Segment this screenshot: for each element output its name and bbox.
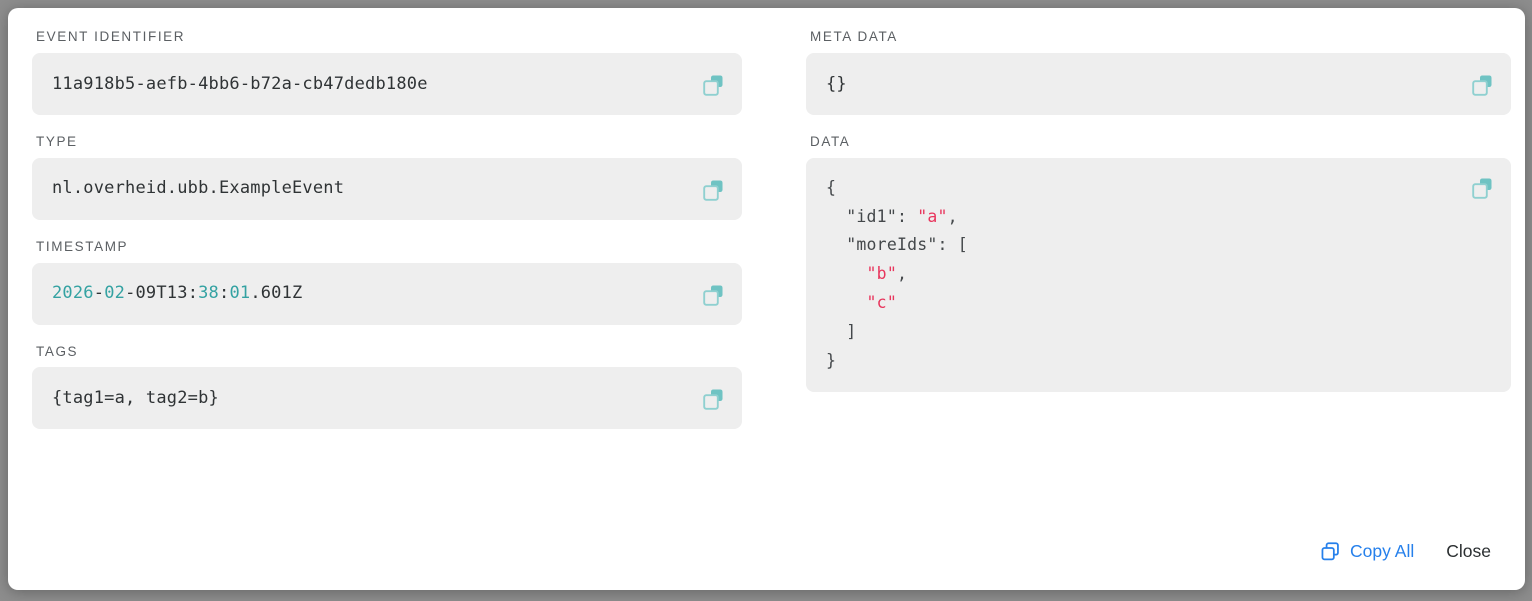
timestamp-token: 01 [229,283,250,303]
timestamp-box: 2026-02-09T13:38:01.601Z [32,263,742,325]
event-identifier-label: EVENT IDENTIFIER [36,30,742,45]
timestamp-value: 2026-02-09T13:38:01.601Z [52,281,303,306]
json-token: "a" [917,207,947,226]
json-token: , [948,207,958,226]
copy-icon-timestamp[interactable] [702,282,726,306]
data-json-value: { "id1": "a", "moreIds": [ "b", "c" ]} [826,174,968,376]
json-token: "c" [867,293,897,312]
json-token: "id1" [846,207,897,226]
timestamp-token: .601Z [250,283,302,303]
tags-value: {tag1=a, tag2=b} [52,386,219,411]
data-label: DATA [810,135,1511,150]
copy-all-icon [1320,541,1341,562]
meta-data-box: {} [806,53,1511,115]
field-timestamp: TIMESTAMP 2026-02-09T13:38:01.601Z [32,240,742,325]
field-data: DATA { "id1": "a", "moreIds": [ "b", "c"… [806,135,1511,392]
json-line: "c" [826,289,968,318]
right-column: META DATA {} DATA { "id [806,30,1511,412]
close-button[interactable]: Close [1444,537,1495,566]
event-identifier-box: 11a918b5-aefb-4bb6-b72a-cb47dedb180e [32,53,742,115]
json-line: { [826,174,968,203]
copy-icon [702,72,726,96]
timestamp-label: TIMESTAMP [36,240,742,255]
close-label: Close [1446,541,1491,562]
json-token: : [ [938,235,968,254]
json-token: , [897,264,907,283]
timestamp-token: 2026 [52,283,94,303]
meta-data-value: {} [826,72,847,97]
copy-all-button[interactable]: Copy All [1318,537,1416,566]
field-event-identifier: EVENT IDENTIFIER 11a918b5-aefb-4bb6-b72a… [32,30,742,115]
event-detail-modal: EVENT IDENTIFIER 11a918b5-aefb-4bb6-b72a… [8,8,1525,590]
copy-icon-type[interactable] [702,177,726,201]
json-line: "moreIds": [ [826,231,968,260]
field-meta-data: META DATA {} [806,30,1511,115]
timestamp-token: 38 [198,283,219,303]
timestamp-token: 09T13 [136,283,188,303]
json-token: { [826,178,836,197]
copy-icon [702,282,726,306]
field-columns: EVENT IDENTIFIER 11a918b5-aefb-4bb6-b72a… [32,30,1501,449]
copy-icon-meta-data[interactable] [1471,72,1495,96]
tags-box: {tag1=a, tag2=b} [32,367,742,429]
copy-icon [702,177,726,201]
copy-all-label: Copy All [1350,541,1414,562]
type-value: nl.overheid.ubb.ExampleEvent [52,176,344,201]
copy-icon [1471,72,1495,96]
json-token: "moreIds" [846,235,937,254]
copy-icon [1471,175,1495,199]
timestamp-token: : [188,283,198,303]
left-column: EVENT IDENTIFIER 11a918b5-aefb-4bb6-b72a… [32,30,742,449]
json-token: } [826,351,836,370]
copy-icon-event-identifier[interactable] [702,72,726,96]
data-box: { "id1": "a", "moreIds": [ "b", "c" ]} [806,158,1511,392]
type-box: nl.overheid.ubb.ExampleEvent [32,158,742,220]
field-tags: TAGS {tag1=a, tag2=b} [32,345,742,430]
copy-icon-tags[interactable] [702,386,726,410]
timestamp-token: 02 [104,283,125,303]
modal-footer: Copy All Close [1318,537,1495,566]
copy-icon [702,386,726,410]
timestamp-token: - [94,283,104,303]
type-label: TYPE [36,135,742,150]
copy-icon-data[interactable] [1471,175,1495,199]
tags-label: TAGS [36,345,742,360]
json-token: "b" [867,264,897,283]
json-token: : [897,207,917,226]
json-token: ] [846,322,856,341]
json-line: } [826,347,968,376]
event-identifier-value: 11a918b5-aefb-4bb6-b72a-cb47dedb180e [52,72,428,97]
meta-data-label: META DATA [810,30,1511,45]
timestamp-token: - [125,283,135,303]
json-line: "id1": "a", [826,203,968,232]
json-line: "b", [826,260,968,289]
field-type: TYPE nl.overheid.ubb.ExampleEvent [32,135,742,220]
json-line: ] [826,318,968,347]
modal-body: EVENT IDENTIFIER 11a918b5-aefb-4bb6-b72a… [8,8,1525,590]
timestamp-token: : [219,283,229,303]
